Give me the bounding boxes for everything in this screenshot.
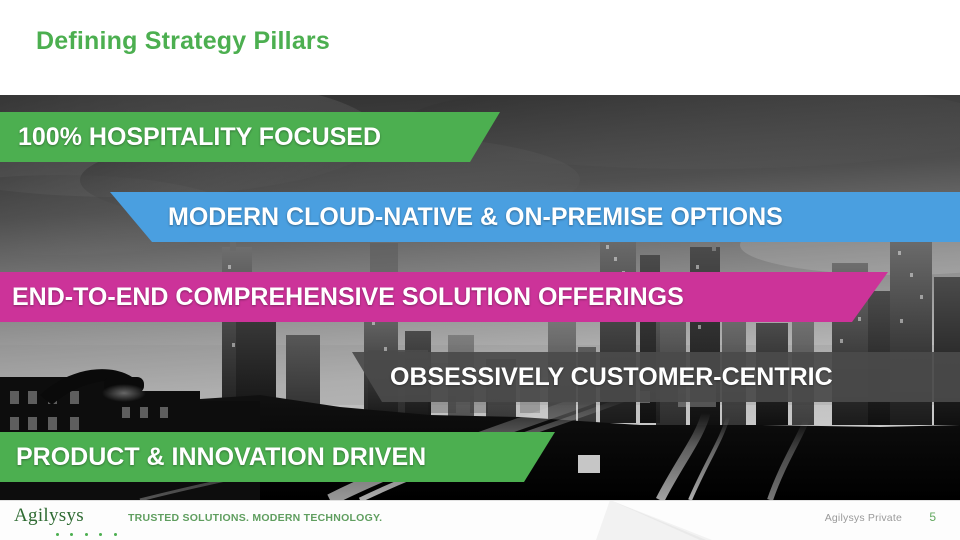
pillar-label-4: OBSESSIVELY CUSTOMER-CENTRIC: [390, 363, 833, 392]
slide-title-area: Defining Strategy Pillars: [0, 0, 960, 95]
strategy-pillar-banners: 100% HOSPITALITY FOCUSED MODERN CLOUD-NA…: [0, 95, 960, 500]
logo-dot: [85, 533, 88, 536]
pillar-banner-cloud-native-options[interactable]: MODERN CLOUD-NATIVE & ON-PREMISE OPTIONS: [110, 192, 960, 242]
agilysys-logo: Agilysys: [14, 506, 124, 534]
footer-tagline: TRUSTED SOLUTIONS. MODERN TECHNOLOGY.: [128, 512, 382, 524]
pillar-label-5: PRODUCT & INNOVATION DRIVEN: [16, 443, 426, 472]
pillar-banner-hospitality-focused[interactable]: 100% HOSPITALITY FOCUSED: [0, 112, 500, 162]
logo-dot: [114, 533, 117, 536]
page-title: Defining Strategy Pillars: [36, 27, 330, 56]
confidentiality-label: Agilysys Private: [825, 512, 902, 524]
pillar-banner-end-to-end-solutions[interactable]: END-TO-END COMPREHENSIVE SOLUTION OFFERI…: [0, 272, 888, 322]
slide-canvas: Defining Strategy Pillars: [0, 0, 960, 540]
pillar-label-3: END-TO-END COMPREHENSIVE SOLUTION OFFERI…: [12, 283, 684, 312]
agilysys-logo-dots: [56, 523, 124, 540]
logo-dot: [99, 533, 102, 536]
logo-dot: [56, 533, 59, 536]
pillar-label-2: MODERN CLOUD-NATIVE & ON-PREMISE OPTIONS: [168, 203, 783, 232]
pillar-banner-customer-centric[interactable]: OBSESSIVELY CUSTOMER-CENTRIC: [352, 352, 960, 402]
pillar-label-1: 100% HOSPITALITY FOCUSED: [18, 123, 381, 152]
logo-dot: [70, 533, 73, 536]
pillar-banner-product-innovation[interactable]: PRODUCT & INNOVATION DRIVEN: [0, 432, 555, 482]
page-number: 5: [929, 510, 936, 524]
